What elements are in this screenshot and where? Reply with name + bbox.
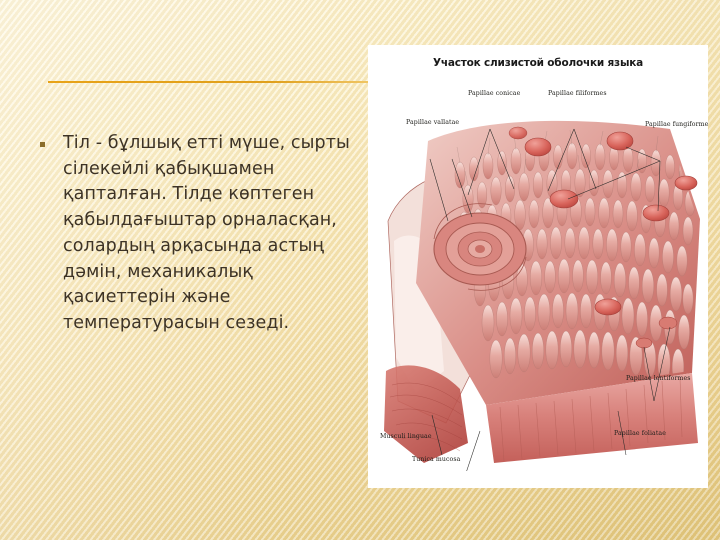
gold-divider-rule — [48, 81, 368, 83]
label-papillae-conicae: Papillae conicae — [468, 90, 520, 97]
label-papillae-vallatae: Papillae vallatae — [406, 119, 459, 126]
bullet-marker-icon — [40, 142, 45, 147]
label-papillae-foliatae: Papillae foliatae — [614, 430, 666, 437]
figure-title: Участок слизистой оболочки языка — [368, 57, 708, 69]
tongue-mucosa-illustration — [368, 71, 708, 471]
bullet-item-label: Тіл - бұлшық етті мүше, сырты сілекейлі … — [63, 131, 360, 337]
bullet-list-item: Тіл - бұлшық етті мүше, сырты сілекейлі … — [40, 131, 360, 337]
tissue-block — [384, 121, 700, 471]
label-tunica-mucosa: Tunica mucosa — [412, 456, 460, 463]
label-papillae-fungiformes: Papillae fungiformes — [645, 121, 708, 128]
content-text-block: Тіл - бұлшық етті мүше, сырты сілекейлі … — [40, 131, 360, 337]
label-papillae-filiformes: Papillae filiformes — [548, 90, 607, 97]
label-musculi-linguae: Musculi linguae — [380, 433, 432, 440]
label-papillae-lentiformes: Papillae lentiformes — [626, 375, 691, 382]
figure-panel: Участок слизистой оболочки языка — [368, 45, 708, 488]
slide-canvas: Тіл - бұлшық етті мүше, сырты сілекейлі … — [0, 0, 720, 540]
